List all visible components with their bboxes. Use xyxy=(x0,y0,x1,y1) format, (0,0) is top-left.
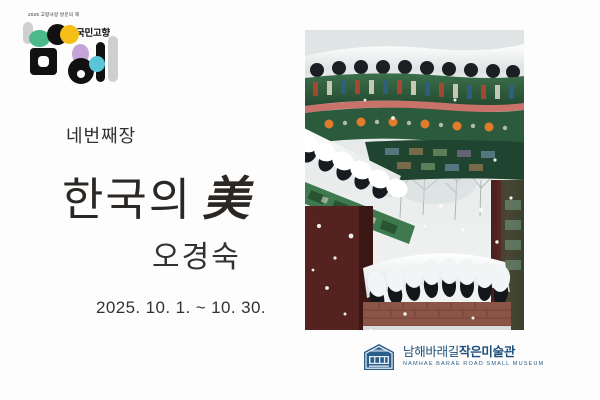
campaign-wordmark: 국민고향 xyxy=(76,25,110,39)
museum-name-korean-bold: 작은미술관 xyxy=(459,345,515,359)
campaign-logo: 2025 고향사랑 방문의 해 국민고향 xyxy=(20,8,150,84)
campaign-tagline: 2025 고향사랑 방문의 해 xyxy=(28,12,79,18)
museum-name-korean: 남해바래길작은미술관 xyxy=(403,346,544,359)
page-title: 한국의美 xyxy=(62,160,251,229)
logo-shape-white-inner-dot xyxy=(77,70,85,78)
exhibition-dates: 2025. 10. 1. ~ 10. 30. xyxy=(96,298,266,318)
artist-name: 오경숙 xyxy=(152,232,241,276)
museum-name-korean-light: 남해바래길 xyxy=(403,345,459,359)
exhibition-poster: 2025 고향사랑 방문의 해 국민고향 네번째장 한국의美 오경숙 2025.… xyxy=(0,0,600,400)
logo-shape-white-inner-square xyxy=(38,56,49,67)
title-korean: 한국의 xyxy=(62,174,192,225)
museum-name-block: 남해바래길작은미술관 NAMHAE BARAE ROAD SMALL MUSEU… xyxy=(403,346,544,367)
museum-name-english: NAMHAE BARAE ROAD SMALL MUSEUM xyxy=(403,362,544,368)
museum-house-icon xyxy=(362,343,396,371)
logo-shape-grey-bar-right xyxy=(108,36,118,82)
logo-shape-yellow-dot xyxy=(60,25,79,44)
exhibition-photo xyxy=(305,30,524,330)
title-hanja: 美 xyxy=(202,172,251,227)
museum-logo: 남해바래길작은미술관 NAMHAE BARAE ROAD SMALL MUSEU… xyxy=(362,343,544,371)
chapter-label: 네번째장 xyxy=(66,122,136,148)
logo-shape-cyan-dot xyxy=(89,56,105,72)
